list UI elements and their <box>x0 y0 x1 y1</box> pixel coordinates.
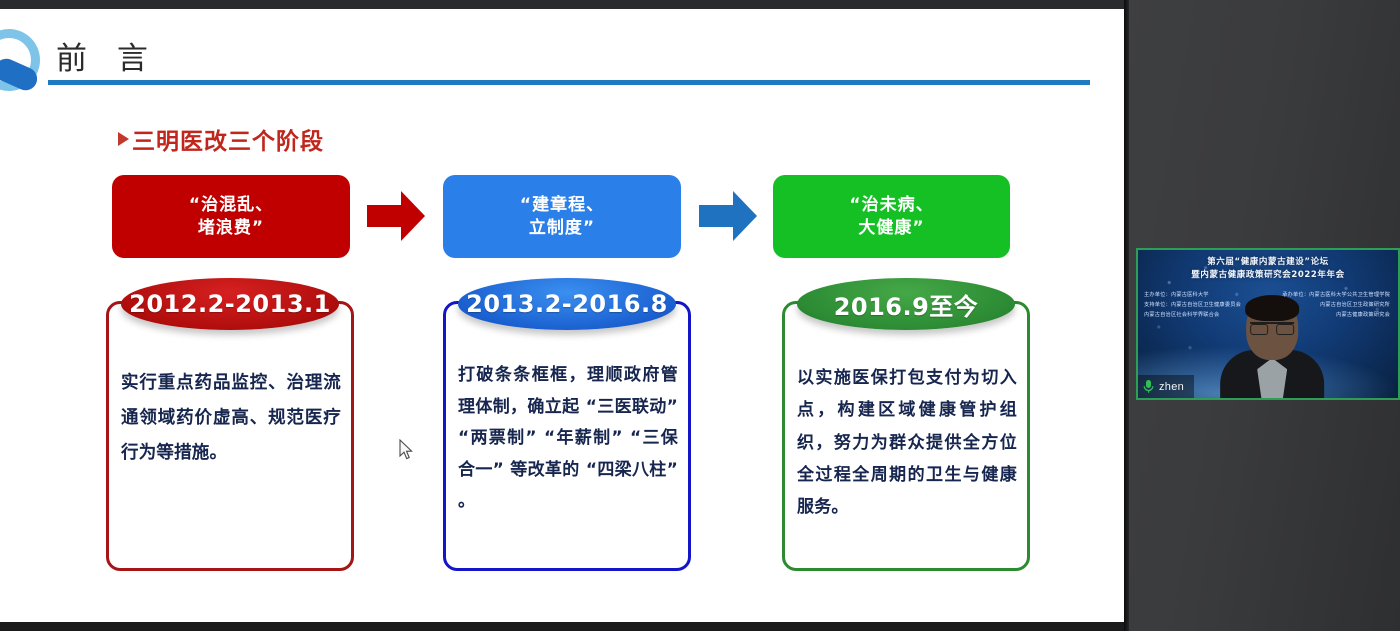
page-title: 前 言 <box>56 33 158 78</box>
section-subtitle: 三明医改三个阶段 <box>118 122 324 156</box>
conference-banner: 第六届“健康内蒙古建设”论坛 暨内蒙古健康政策研究会2022年年会 <box>1138 256 1398 282</box>
period-panel-2-text: 打破条条框框，理顺政府管理体制，确立起 “三医联动” “两票制” “年薪制” “… <box>458 360 678 518</box>
stage-pill-1-label: “治混乱、 堵浪费” <box>189 194 273 240</box>
arrow-bullet-icon <box>118 132 129 146</box>
conference-banner-line1: 第六届“健康内蒙古建设”论坛 <box>1138 256 1398 269</box>
video-tile-speaker[interactable]: 第六届“健康内蒙古建设”论坛 暨内蒙古健康政策研究会2022年年会 主办单位：内… <box>1136 248 1400 400</box>
stage-pill-2-label: “建章程、 立制度” <box>520 194 604 240</box>
period-date-badge-3: 2016.9至今 <box>797 278 1015 330</box>
period-panel-1-text: 实行重点药品监控、治理流通领域药价虚高、规范医疗行为等措施。 <box>121 366 341 471</box>
title-underline <box>48 80 1090 85</box>
speaker-silhouette <box>1220 298 1324 398</box>
microphone-icon <box>1142 379 1155 394</box>
period-panel-3: 以实施医保打包支付为切入点，构建区域健康管护组织，努力为群众提供全方位全过程全周… <box>782 301 1030 571</box>
period-panel-1: 实行重点药品监控、治理流通领域药价虚高、规范医疗行为等措施。 <box>106 301 354 571</box>
screen: 前 言 三明医改三个阶段 “治混乱、 堵浪费” “建章程、 立制度” “治未病、… <box>0 0 1400 631</box>
right-arrow-icon <box>365 189 427 243</box>
top-window-strip <box>0 0 1124 9</box>
stage-pill-3: “治未病、 大健康” <box>773 175 1010 258</box>
period-date-badge-1: 2012.2-2013.1 <box>121 278 339 330</box>
stage-pill-2: “建章程、 立制度” <box>443 175 681 258</box>
stage-pill-3-label: “治未病、 大健康” <box>849 194 933 240</box>
right-arrow-icon <box>697 189 759 243</box>
section-subtitle-label: 三明医改三个阶段 <box>132 122 324 156</box>
stage-pill-1: “治混乱、 堵浪费” <box>112 175 350 258</box>
period-date-badge-2: 2013.2-2016.8 <box>458 278 676 330</box>
mouse-pointer-icon <box>399 439 415 461</box>
participant-name: zhen <box>1159 381 1184 393</box>
period-panel-2: 打破条条框框，理顺政府管理体制，确立起 “三医联动” “两票制” “年薪制” “… <box>443 301 691 571</box>
rail-divider <box>1124 0 1129 631</box>
conference-banner-line2: 暨内蒙古健康政策研究会2022年年会 <box>1138 269 1398 282</box>
slide-stage[interactable]: 前 言 三明医改三个阶段 “治混乱、 堵浪费” “建章程、 立制度” “治未病、… <box>0 9 1124 622</box>
magnifier-logo-icon <box>0 29 50 101</box>
period-panel-3-text: 以实施医保打包支付为切入点，构建区域健康管护组织，努力为群众提供全方位全过程全周… <box>797 362 1017 523</box>
participant-name-chip: zhen <box>1138 375 1194 398</box>
